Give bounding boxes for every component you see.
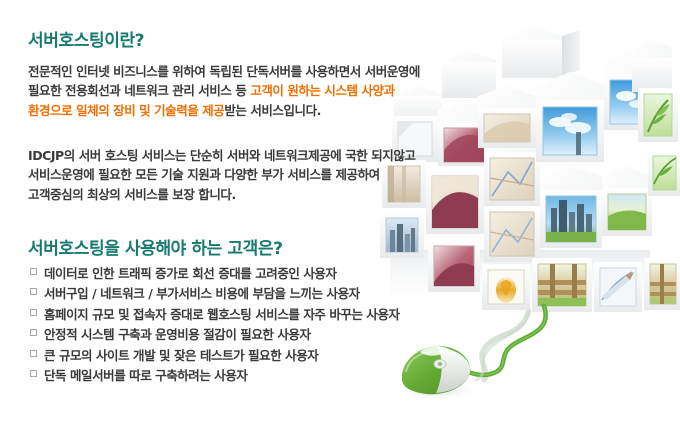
cube-photo-map [484,206,540,262]
page-root: 서버호스팅이란? 전문적인 인터넷 비즈니스를 위하여 독립된 단독서버를 사용… [0,0,680,425]
intro-p2-line3: 고객중심의 최상의 서비스를 보장 합니다. [28,187,236,202]
intro-p2-line1: IDCJP의 서버 호스팅 서비스는 단순히 서버와 네트워크제공에 국한 되지… [28,148,415,163]
cube-photo-sky [536,72,604,162]
target-customers-list: 데이터로 인한 트래픽 증가로 회선 증대를 고려중인 사용자 서버구입 / 네… [30,262,400,385]
list-item-label: 단독 메일서버를 따로 구축하려는 사용자 [44,365,247,384]
list-item-label: 안정적 시스템 구축과 운영비용 절감이 필요한 사용자 [44,324,311,343]
cube-photo-red [426,170,484,234]
cube-photo-leaf [638,88,678,142]
cube-photo-grass [648,150,680,196]
intro-p1-line1: 전문적인 인터넷 비즈니스를 위하여 독립된 단독서버를 사용하면서 서버운영에 [28,64,420,79]
intro-p1-line3-plain: 받는 서비스입니다. [224,103,321,118]
page-title-what-is-server-hosting: 서버호스팅이란? [28,33,144,50]
intro-p1-line2-highlight: 고객이 원하는 시스템 사양과 [250,83,394,98]
cube-photo-city [380,212,424,258]
square-bullet-icon [30,370,37,377]
cube-photo-city [540,166,602,248]
list-item: 큰 규모의 사이트 개발 및 잦은 테스트가 필요한 사용자 [30,344,400,365]
square-bullet-icon [30,268,37,275]
list-item: 데이터로 인한 트래픽 증가로 회선 증대를 고려중인 사용자 [30,262,400,283]
cube-plain [632,40,672,92]
square-bullet-icon [30,309,37,316]
list-item: 단독 메일서버를 따로 구축하려는 사용자 [30,365,400,386]
list-item: 안정적 시스템 구축과 운영비용 절감이 필요한 사용자 [30,324,400,345]
intro-p1-line2-plain: 필요한 전용회선과 네트워크 관리 서비스 등 [28,83,250,98]
cube-photo-gold [482,264,530,310]
intro-paragraph-1: 전문적인 인터넷 비즈니스를 위하여 독립된 단독서버를 사용하면서 서버운영에… [28,62,420,121]
list-item: 홈페이지 규모 및 접속자 증대로 웹호스팅 서비스를 자주 바꾸는 사용자 [30,303,400,324]
intro-paragraph-2: IDCJP의 서버 호스팅 서비스는 단순히 서버와 네트워크제공에 국한 되지… [28,146,415,205]
cube-plain [428,240,480,292]
green-cable [460,306,546,380]
square-bullet-icon [30,329,37,336]
list-item-label: 홈페이지 규모 및 접속자 증대로 웹호스팅 서비스를 자주 바꾸는 사용자 [44,304,400,323]
cube-photo-paper [594,262,642,312]
square-bullet-icon [30,288,37,295]
cube-photo-grass [602,166,652,236]
list-item-label: 큰 규모의 사이트 개발 및 잦은 테스트가 필요한 사용자 [44,345,318,364]
illustration-photo-cubes [380,0,680,425]
cube-photo-map [478,86,536,148]
computer-mouse [398,346,478,401]
cube-plain [502,26,580,78]
list-item-label: 서버구입 / 네트워크 / 부가서비스 비용에 부담을 느끼는 사용자 [44,283,360,302]
list-item-label: 데이터로 인한 트래픽 증가로 회선 증대를 고려중인 사용자 [44,263,337,282]
cube-plain [442,50,496,98]
square-bullet-icon [30,350,37,357]
list-item: 서버구입 / 네트워크 / 부가서비스 비용에 부담을 느끼는 사용자 [30,283,400,304]
intro-p2-line2: 서비스운영에 필요한 모든 기술 지원과 다양한 부가 서비스를 제공하여 [28,167,380,182]
cube-photo-fence [644,258,680,310]
intro-p1-line3-highlight: 환경으로 일체의 장비 및 기술력을 제공 [28,103,224,118]
cube-photo-fence [532,258,592,312]
section-title-target-customers: 서버호스팅을 사용해야 하는 고객은? [28,241,283,258]
